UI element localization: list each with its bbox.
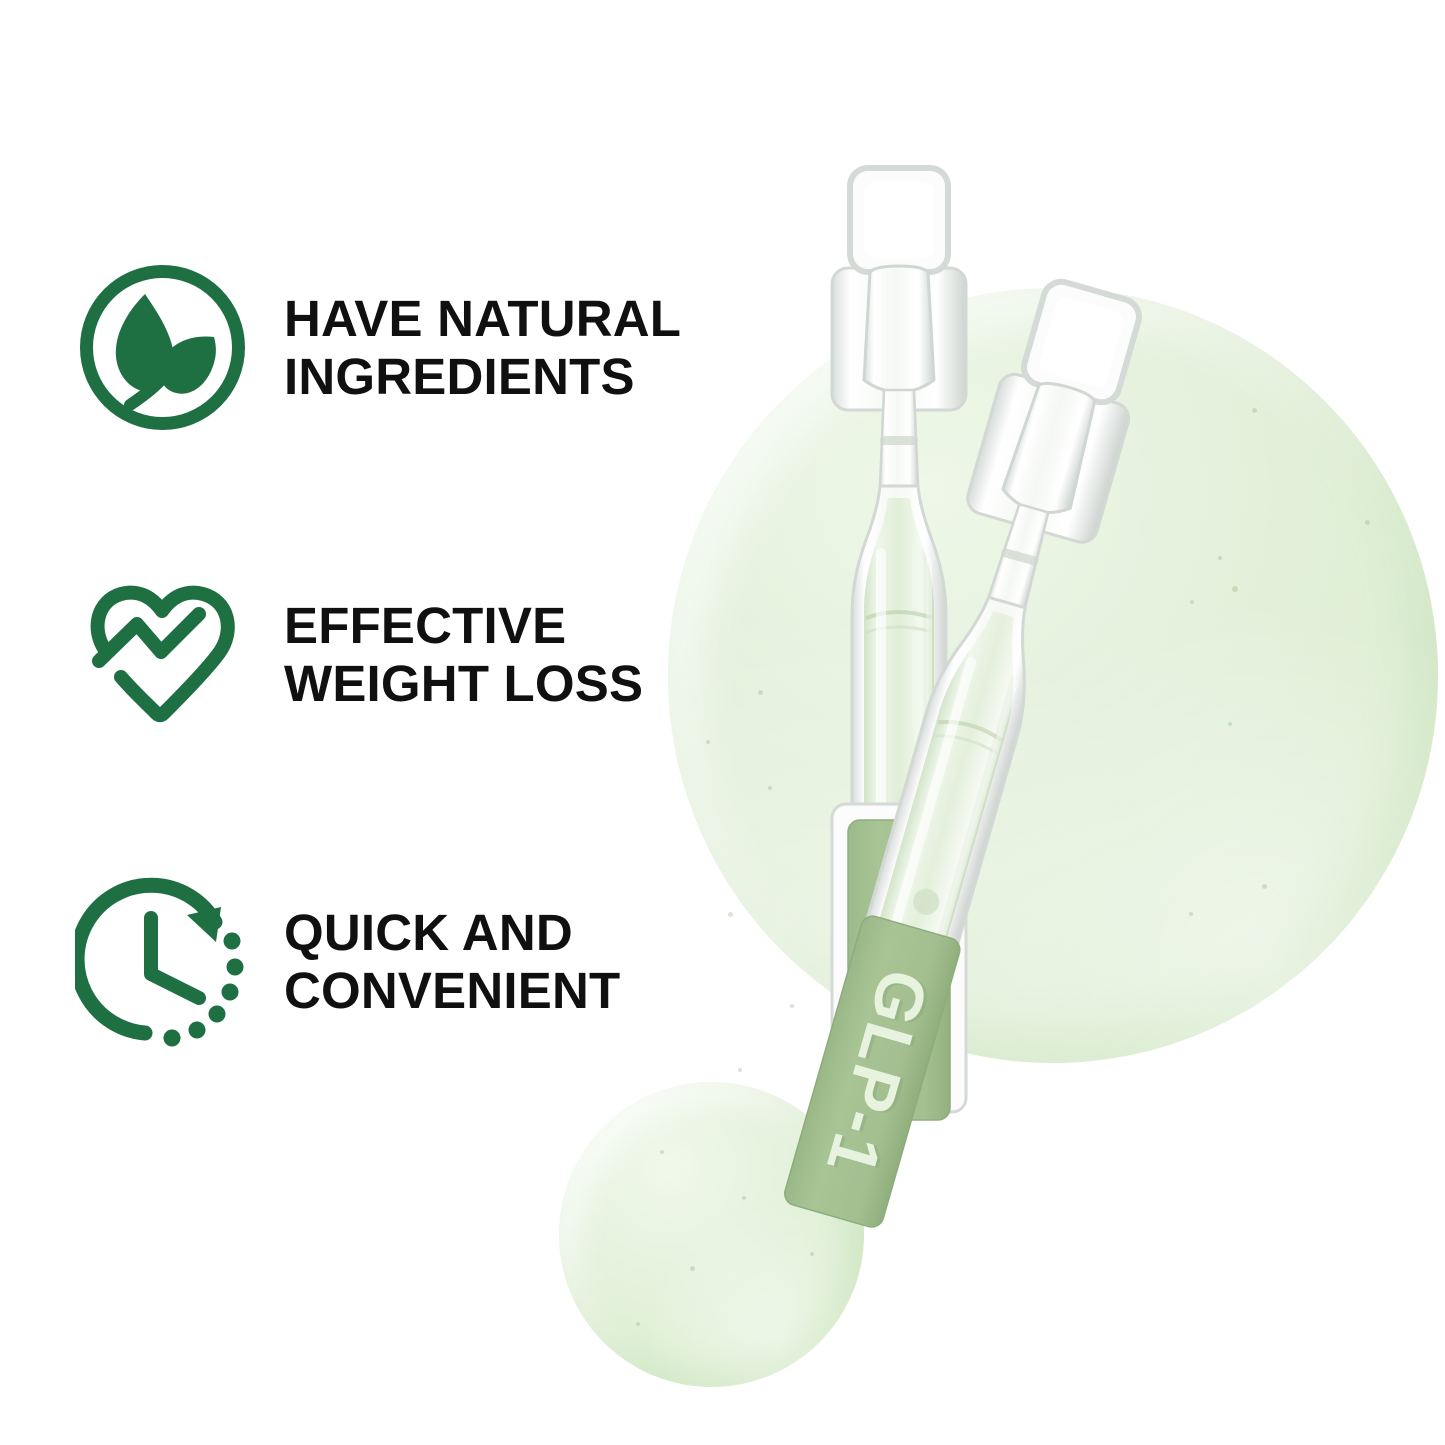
feature-list: HAVE NATURAL INGREDIENTS EFFECTIVE WEIGH… [75,260,715,1181]
feature-item-quick-convenient: QUICK AND CONVENIENT [75,874,715,1049]
leaf-in-circle-icon [75,260,250,435]
gel-speck [1218,556,1222,560]
gel-speck [1228,722,1232,726]
gel-speck [1252,408,1257,413]
feature-item-effective-weight-loss: EFFECTIVE WEIGHT LOSS [75,567,715,742]
feature-item-natural-ingredients: HAVE NATURAL INGREDIENTS [75,260,715,435]
gel-speck [810,1252,814,1256]
gel-speck [1189,912,1193,916]
gel-speck [728,912,733,917]
clock-arrow-icon [75,874,250,1049]
gel-speck [790,1004,794,1008]
gel-speck [1190,600,1194,604]
product-infographic: GLP-1 GLP-1 GLP-1 [0,0,1445,1445]
gel-speck [1262,884,1267,889]
feature-label: EFFECTIVE WEIGHT LOSS [284,597,643,711]
gel-speck [742,1196,746,1200]
heart-pulse-icon [75,567,250,742]
feature-label: HAVE NATURAL INGREDIENTS [284,290,681,404]
gel-speck [636,1322,640,1326]
feature-label: QUICK AND CONVENIENT [284,904,620,1018]
gel-speck [690,1266,695,1271]
gel-speck [1365,520,1370,525]
gel-speck [738,1068,742,1072]
gel-speck [1232,586,1238,592]
gel-speck [758,690,763,695]
gel-speck [768,786,772,790]
